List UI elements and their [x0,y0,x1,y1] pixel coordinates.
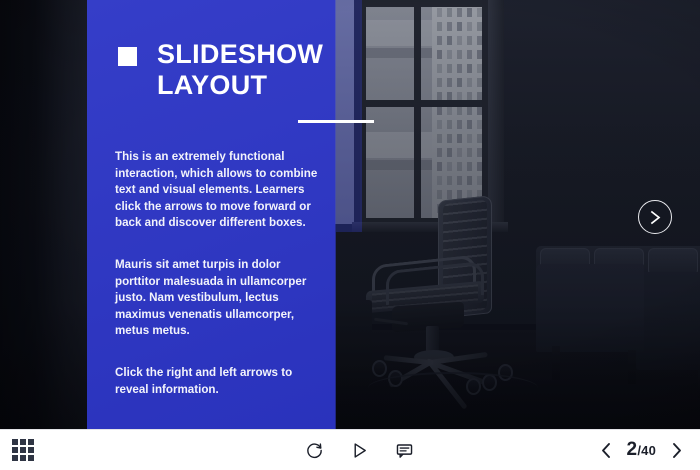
notes-button[interactable] [395,441,414,460]
toolbar-left-group [0,439,120,461]
grid-cell [20,447,26,453]
slide-paragraph-2: Mauris sit amet turpis in dolor porttito… [115,257,321,340]
play-icon [350,441,369,460]
grid-cell [28,455,34,461]
toolbar-center-group [120,441,599,460]
slide-title-line1: SLIDESHOW [157,39,357,70]
slide-next-arrow-button[interactable] [638,200,672,234]
grid-cell [12,455,18,461]
page-total: /40 [637,443,656,458]
grid-cell [20,439,26,445]
slide-canvas: SLIDESHOW LAYOUT This is an extremely fu… [0,0,700,429]
replay-button[interactable] [305,441,324,460]
grid-cell [28,447,34,453]
page-current: 2 [627,439,638,461]
player-stage: SLIDESHOW LAYOUT This is an extremely fu… [0,0,700,470]
grid-menu-icon[interactable] [12,439,34,461]
chevron-right-icon [649,210,662,225]
notes-comment-icon [395,441,414,460]
next-slide-button[interactable] [670,442,684,459]
content-panel: SLIDESHOW LAYOUT This is an extremely fu… [87,0,335,429]
title-divider [298,120,374,123]
panel-overlay-far [336,0,362,232]
grid-cell [20,455,26,461]
toolbar-right-group: 2 /40 [599,439,700,461]
page-indicator: 2 /40 [627,439,656,461]
chevron-left-icon [599,442,613,459]
replay-icon [305,441,324,460]
play-button[interactable] [350,441,369,460]
grid-cell [12,439,18,445]
slide-body: This is an extremely functional interact… [115,149,321,398]
player-toolbar: 2 /40 [0,429,700,470]
chevron-right-icon [670,442,684,459]
grid-cell [28,439,34,445]
slide-title: SLIDESHOW LAYOUT [157,39,357,101]
square-marker-icon [118,47,137,66]
slide-paragraph-1: This is an extremely functional interact… [115,149,321,232]
previous-slide-button[interactable] [599,442,613,459]
slide-title-line2: LAYOUT [157,70,357,101]
grid-cell [12,447,18,453]
slide-paragraph-3: Click the right and left arrows to revea… [115,365,321,398]
